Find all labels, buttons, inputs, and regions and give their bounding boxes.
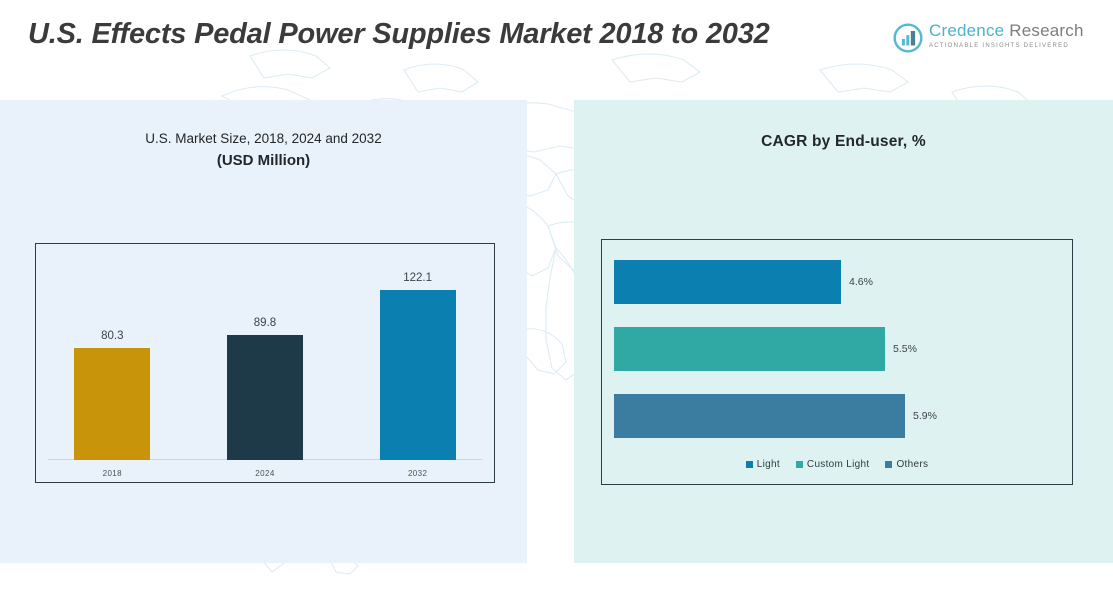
legend-label: Light	[757, 459, 780, 470]
logo-tagline: Actionable Insights Delivered	[929, 43, 1084, 49]
logo-name-first: Credence	[929, 21, 1004, 40]
bar-row: 5.9%	[614, 394, 905, 438]
column-category-label: 2032	[408, 469, 427, 478]
credence-research-logo: Credence Research Actionable Insights De…	[893, 22, 1079, 64]
logo-name: Credence Research	[929, 21, 1084, 41]
bar-value-label: 5.5%	[893, 343, 917, 355]
column-group: 122.12032	[341, 265, 494, 460]
bar-plot-area: 4.6%5.5%5.9%	[602, 240, 1072, 484]
column-group: 80.32018	[36, 265, 189, 460]
logo-text: Credence Research Actionable Insights De…	[929, 21, 1084, 49]
left-chart-title-line2: (USD Million)	[0, 152, 527, 169]
bar-value-label: 4.6%	[849, 276, 873, 288]
legend-item[interactable]: Others	[885, 459, 928, 470]
legend-label: Others	[896, 459, 928, 470]
cagr-by-end-user-chart: 4.6%5.5%5.9% LightCustom LightOthers	[601, 239, 1073, 485]
horizontal-bar[interactable]	[614, 260, 841, 304]
us-market-size-chart: 80.3201889.82024122.12032	[35, 243, 495, 483]
horizontal-bar[interactable]	[614, 327, 885, 371]
chart-legend: LightCustom LightOthers	[602, 459, 1072, 470]
column-bar[interactable]	[74, 348, 150, 460]
logo-name-second: Research	[1009, 21, 1083, 40]
column-bar[interactable]	[227, 335, 303, 460]
legend-item[interactable]: Light	[746, 459, 780, 470]
left-chart-title-line1: U.S. Market Size, 2018, 2024 and 2032	[0, 131, 527, 146]
legend-swatch	[746, 461, 753, 468]
column-category-label: 2024	[255, 469, 274, 478]
column-value-label: 122.1	[403, 272, 432, 284]
column-plot-area: 80.3201889.82024122.12032	[36, 244, 494, 482]
bar-row: 5.5%	[614, 327, 885, 371]
bar-value-label: 5.9%	[913, 410, 937, 422]
legend-swatch	[885, 461, 892, 468]
infographic-canvas: U.S. Market Size, 2018, 2024 and 2032 (U…	[0, 0, 1113, 615]
legend-label: Custom Light	[807, 459, 870, 470]
horizontal-bar[interactable]	[614, 394, 905, 438]
legend-item[interactable]: Custom Light	[796, 459, 870, 470]
page-title: U.S. Effects Pedal Power Supplies Market…	[28, 16, 888, 53]
right-chart-title: CAGR by End-user, %	[574, 133, 1113, 151]
column-value-label: 89.8	[254, 317, 276, 329]
column-category-label: 2018	[103, 469, 122, 478]
column-group: 89.82024	[189, 265, 342, 460]
legend-swatch	[796, 461, 803, 468]
bar-chart-circle-icon	[893, 23, 923, 53]
column-bar[interactable]	[380, 290, 456, 460]
header: U.S. Effects Pedal Power Supplies Market…	[0, 0, 1113, 100]
bar-row: 4.6%	[614, 260, 841, 304]
column-value-label: 80.3	[101, 330, 123, 342]
